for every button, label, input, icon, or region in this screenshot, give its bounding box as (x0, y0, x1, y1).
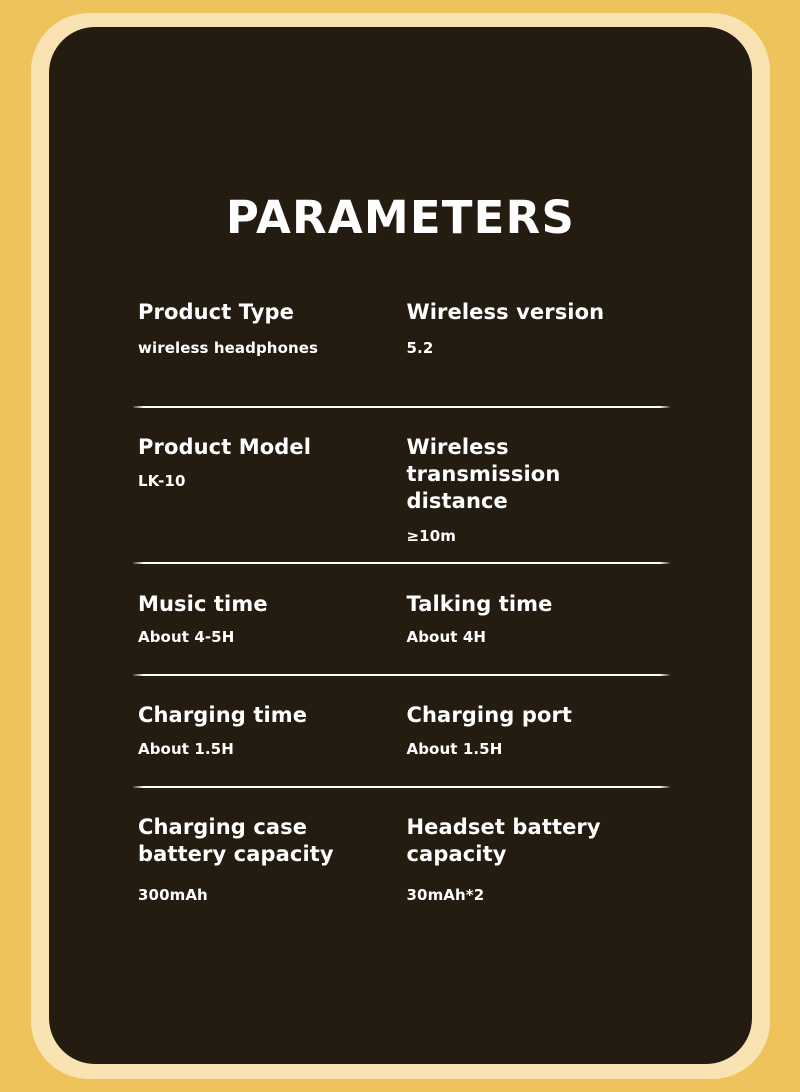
spec-value: About 1.5H (407, 740, 667, 760)
spec-label: Charging port (407, 702, 667, 729)
spec-label: Product Type (138, 299, 398, 326)
spec-cell-music-time: Music time About 4-5H (133, 591, 402, 648)
spec-value: 300mAh (138, 886, 398, 906)
spec-label: Product Model (138, 434, 398, 461)
spec-cell-talking-time: Talking time About 4H (402, 591, 671, 648)
parameters-card: PARAMETERS Product Type wireless headpho… (49, 27, 752, 1064)
row-divider (133, 562, 670, 564)
spec-cell-wireless-version: Wireless version 5.2 (402, 299, 671, 359)
spec-cell-charging-time: Charging time About 1.5H (133, 702, 402, 760)
table-row: Product Type wireless headphones Wireles… (133, 299, 670, 406)
spec-label: Charging case battery capacity (138, 814, 398, 869)
row-divider (133, 674, 670, 676)
spec-label: Talking time (407, 591, 667, 618)
table-row: Product Model LK-10 Wireless transmissio… (133, 434, 670, 562)
spec-label: Headset battery capacity (407, 814, 667, 869)
row-divider (133, 406, 670, 408)
table-row: Charging time About 1.5H Charging port A… (133, 702, 670, 786)
spec-value: 5.2 (407, 339, 667, 359)
spec-label: Wireless version (407, 299, 667, 326)
spec-cell-product-model: Product Model LK-10 (133, 434, 402, 546)
spec-value: About 4-5H (138, 628, 398, 648)
spec-cell-headset-battery-capacity: Headset battery capacity 30mAh*2 (402, 814, 671, 906)
row-divider (133, 786, 670, 788)
spec-cell-charging-port: Charging port About 1.5H (402, 702, 671, 760)
spec-label: Music time (138, 591, 398, 618)
spec-value: About 4H (407, 628, 667, 648)
spec-value: LK-10 (138, 472, 398, 492)
spec-label: Charging time (138, 702, 398, 729)
parameters-table: Product Type wireless headphones Wireles… (133, 299, 670, 906)
spec-cell-product-type: Product Type wireless headphones (133, 299, 402, 359)
spec-value: wireless headphones (138, 339, 398, 359)
spec-cell-wireless-transmission-distance: Wireless transmission distance ≥10m (402, 434, 671, 546)
spec-value: ≥10m (407, 527, 667, 547)
spec-cell-charging-case-battery-capacity: Charging case battery capacity 300mAh (133, 814, 402, 906)
spec-value: 30mAh*2 (407, 886, 667, 906)
spec-label: Wireless transmission distance (407, 434, 667, 516)
page-title: PARAMETERS (49, 195, 752, 240)
table-row: Charging case battery capacity 300mAh He… (133, 814, 670, 906)
table-row: Music time About 4-5H Talking time About… (133, 591, 670, 674)
spec-sheet: PARAMETERS Product Type wireless headpho… (0, 0, 800, 1092)
spec-value: About 1.5H (138, 740, 398, 760)
